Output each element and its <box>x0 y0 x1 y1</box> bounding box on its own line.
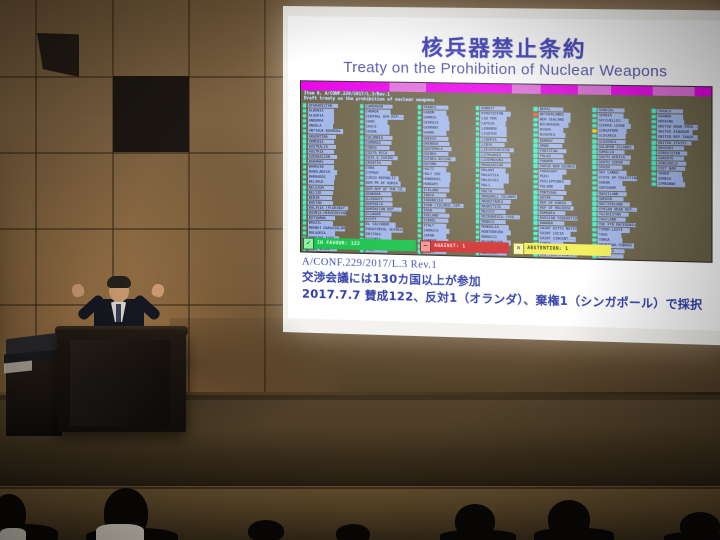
vote-indicator-favour <box>418 126 421 130</box>
tally-in-favour: ✓ IN FAVOUR: 122 <box>303 237 416 251</box>
vote-indicator-favour <box>418 147 421 151</box>
vote-indicator-favour <box>360 161 363 165</box>
country-name: SUDAN <box>598 181 623 186</box>
slide-caption: A/CONF.229/2017/L.3 Rev.1 交渉会議には130カ国以上が… <box>302 256 717 313</box>
vote-indicator-favour <box>476 199 479 203</box>
country-name: ALGERIA <box>308 114 334 119</box>
vote-indicator-favour <box>360 120 363 124</box>
vote-column: AFGHANISTANALBANIAALGERIAANDORRAANGOLAAN… <box>303 103 358 234</box>
audience-light-clothing <box>96 524 144 540</box>
country-name: SLOVENIA <box>598 139 626 144</box>
country-name: KYRGYZSTAN <box>480 111 510 116</box>
acoustic-panel <box>113 76 189 152</box>
country-name: NEW ZEALAND <box>539 117 571 122</box>
vote-indicator-favour <box>593 217 597 221</box>
vote-column: TUVALUUGANDAUKRAINEUNITED ARAB EMIR...UN… <box>652 109 710 243</box>
vote-indicator-favour <box>652 130 656 134</box>
vote-indicator-favour <box>534 180 537 184</box>
country-name: GAMBIA <box>422 116 447 121</box>
vote-indicator-favour <box>303 231 306 235</box>
vote-indicator-favour <box>476 230 479 234</box>
presenter-tie <box>116 304 121 322</box>
vote-indicator-favour <box>360 110 363 114</box>
vote-indicator-favour <box>418 116 421 120</box>
vote-indicator-favour <box>534 201 537 205</box>
vote-indicator-favour <box>593 191 597 195</box>
tally-against: − AGAINST: 1 <box>420 240 509 253</box>
country-name: KUWAIT <box>480 106 506 111</box>
vote-indicator-empty <box>652 213 656 217</box>
vote-indicator-favour <box>360 253 363 257</box>
vote-indicator-favour <box>534 164 537 168</box>
country-name: CUBA <box>365 166 388 171</box>
country-name: HAITI <box>422 167 446 172</box>
vote-indicator-favour <box>652 120 656 124</box>
vote-indicator-favour <box>476 127 479 131</box>
vote-indicator-favour <box>303 196 306 200</box>
vote-indicator-favour <box>476 137 479 141</box>
vote-indicator-favour <box>303 180 306 184</box>
vote-indicator-favour <box>652 151 656 155</box>
vote-indicator-favour <box>360 156 363 160</box>
tally-abstention: ✕ ABSTENTION: 1 <box>513 243 611 257</box>
country-name: LESOTHO <box>480 132 507 137</box>
vote-indicator-favour <box>418 111 421 115</box>
country-name: COLOMBIA <box>365 135 393 140</box>
country-name: MALTA <box>480 189 505 194</box>
vote-indicator-favour <box>418 203 421 207</box>
country-name: GABON <box>422 110 446 115</box>
vote-indicator-favour <box>534 154 537 158</box>
vote-indicator-favour <box>593 197 597 201</box>
vote-indicator-empty <box>652 187 656 191</box>
vote-indicator-favour <box>418 213 421 217</box>
vote-indicator-favour <box>593 108 597 112</box>
vote-indicator-favour <box>303 252 306 256</box>
vote-indicator-favour <box>303 226 306 230</box>
vote-indicator-favour <box>418 177 421 181</box>
vote-indicator-favour <box>476 158 479 162</box>
vote-indicator-favour <box>303 185 306 189</box>
vote-indicator-favour <box>418 167 421 171</box>
vote-indicator-favour <box>652 172 656 176</box>
country-name: GREECE <box>422 136 447 141</box>
lectern-shading <box>70 340 170 426</box>
vote-indicator-favour <box>360 135 363 139</box>
vote-indicator-favour <box>593 114 597 118</box>
vote-indicator-favour <box>303 145 306 149</box>
vote-row: TURKMENISTAN <box>593 259 650 263</box>
vote-indicator-against <box>534 113 537 117</box>
country-name: CAMEROON <box>365 104 393 109</box>
vote-indicator-favour <box>360 166 363 170</box>
vote-indicator-favour <box>652 177 656 181</box>
vote-indicator-favour <box>534 170 537 174</box>
vote-indicator-favour <box>534 144 537 148</box>
vote-indicator-favour <box>534 211 537 215</box>
country-name: SLOVAKIA <box>598 134 626 139</box>
vote-indicator-favour <box>476 215 479 219</box>
audience-shoulders <box>664 532 720 540</box>
vote-indicator-favour <box>593 233 597 237</box>
country-name: ALBANIA <box>308 108 334 113</box>
vote-indicator-favour <box>476 184 479 188</box>
vote-indicator-favour <box>476 194 479 198</box>
vote-indicator-favour <box>534 190 537 194</box>
country-name: GUINEA <box>422 151 447 156</box>
vote-indicator-favour <box>476 148 479 152</box>
vote-indicator-empty <box>652 231 656 235</box>
vote-indicator-favour <box>534 221 537 225</box>
vote-indicator-favour <box>593 181 597 185</box>
vote-indicator-favour <box>360 202 363 206</box>
country-name: PERU <box>539 174 563 179</box>
country-name: VANUATU <box>657 156 684 161</box>
vote-indicator-favour <box>360 207 363 211</box>
vote-indicator-empty <box>652 205 656 209</box>
country-name: NICARAGUA <box>539 123 568 128</box>
country-name: NAURU <box>480 256 505 261</box>
vote-indicator-favour <box>476 132 479 136</box>
vote-indicator-favour <box>476 143 479 147</box>
country-name: AUSTRIA <box>308 149 334 154</box>
vote-indicator-favour <box>534 237 537 241</box>
vote-indicator-empty <box>652 218 656 222</box>
country-name: ANDORRA <box>308 119 334 124</box>
vote-indicator-favour <box>303 170 306 174</box>
country-name: SINGAPORE <box>598 129 627 134</box>
vote-indicator-favour <box>303 150 306 154</box>
country-name: NETHERLANDS <box>539 112 571 117</box>
country-name: MALI <box>480 184 503 189</box>
vote-indicator-favour <box>303 134 306 138</box>
country-name: LIBERIA <box>480 137 507 142</box>
country-name: TURKMENISTAN <box>598 259 631 263</box>
vote-indicator-favour <box>418 208 421 212</box>
vote-indicator-favour <box>476 122 479 126</box>
vote-indicator-favour <box>593 176 597 180</box>
vote-column: CAMEROONCANADACENTRAL AFR REP...CHADCHIL… <box>360 104 415 236</box>
vote-indicator-favour <box>418 136 421 140</box>
vote-indicator-favour <box>652 135 656 139</box>
vote-indicator-favour <box>593 223 597 227</box>
vote-indicator-favour <box>652 156 656 160</box>
country-name: AFGHANISTAN <box>308 103 339 108</box>
vote-indicator-favour <box>418 193 421 197</box>
country-name: NORWAY <box>539 138 565 143</box>
vote-indicator-favour <box>418 224 421 228</box>
vote-indicator-favour <box>303 221 306 225</box>
country-name: SEYCHELLES <box>598 118 629 123</box>
vote-indicator-favour <box>360 140 363 144</box>
vote-indicator-favour <box>360 212 363 216</box>
vote-indicator-favour <box>534 232 537 236</box>
country-name: ZAMBIA <box>657 177 683 182</box>
vote-indicator-favour <box>303 190 306 194</box>
vote-indicator-favour <box>360 227 363 231</box>
vote-indicator-favour <box>360 171 363 175</box>
vote-indicator-favour <box>303 165 306 169</box>
un-voting-board: Item 9, A/CONF.229/2017/L.3/Rev.1 Draft … <box>300 80 713 263</box>
country-name: NIGER <box>539 128 564 133</box>
country-name: IRAQ <box>422 208 445 213</box>
vote-indicator-favour <box>593 150 597 154</box>
vote-indicator-favour <box>360 187 363 191</box>
country-name: POLAND <box>539 185 565 190</box>
vote-indicator-favour <box>418 219 421 223</box>
country-name: ARMENIA <box>308 139 334 144</box>
country-name: GERMANY <box>422 126 449 131</box>
audience-head <box>248 520 284 540</box>
vote-indicator-favour <box>534 216 537 220</box>
audience-light-clothing <box>0 528 26 540</box>
vote-indicator-favour <box>360 217 363 221</box>
vote-indicator-empty <box>652 196 656 200</box>
country-name: GUYANA <box>422 162 447 167</box>
vote-indicator-favour <box>534 257 537 261</box>
vote-indicator-favour <box>303 175 306 179</box>
country-name: CAMBODIA <box>308 251 335 256</box>
vote-indicator-favour <box>418 188 421 192</box>
vote-indicator-favour <box>303 160 306 164</box>
vote-indicator-empty <box>652 209 656 213</box>
vote-indicator-favour <box>303 114 306 118</box>
presenter-hair <box>107 276 131 288</box>
country-name: FINLAND <box>365 253 391 258</box>
vote-indicator-favour <box>476 153 479 157</box>
country-name: KIRIBATI <box>422 254 450 259</box>
vote-indicator-favour <box>476 179 479 183</box>
vote-indicator-empty <box>652 191 656 195</box>
country-name: CHINA <box>365 130 389 135</box>
vote-indicator-favour <box>303 129 306 133</box>
vote-indicator-favour <box>593 155 597 159</box>
audience-shoulders <box>534 528 614 540</box>
vote-indicator-favour <box>652 115 656 119</box>
vote-indicator-favour <box>593 124 597 128</box>
vote-indicator-favour <box>652 182 656 186</box>
vote-indicator-favour <box>476 204 479 208</box>
vote-indicator-favour <box>534 175 537 179</box>
country-name: ANGOLA <box>308 124 333 129</box>
vote-indicator-favour <box>360 151 363 155</box>
lecture-hall-photo: 核兵器禁止条約 Treaty on the Prohibition of Nuc… <box>0 0 720 540</box>
vote-column: KUWAITKYRGYZSTANLAO PDRLATVIALEBANONLESO… <box>476 106 532 239</box>
vote-indicator-favour <box>303 211 306 215</box>
country-name: CANADA <box>365 109 390 114</box>
tally-in-favour-label: IN FAVOUR: 122 <box>314 238 416 252</box>
country-name: QATAR <box>539 195 564 200</box>
country-name: MALAWI <box>480 168 506 173</box>
vote-indicator-favour <box>360 181 363 185</box>
vote-indicator-favour <box>593 228 597 232</box>
vote-indicator-favour <box>418 198 421 202</box>
vote-indicator-favour <box>360 125 363 129</box>
country-name: LEBANON <box>480 127 507 132</box>
audience-shoulders <box>440 530 516 540</box>
vote-indicator-favour <box>593 212 597 216</box>
vote-indicator-favour <box>476 256 479 260</box>
presentation-slide: 核兵器禁止条約 Treaty on the Prohibition of Nuc… <box>288 16 720 331</box>
vote-indicator-favour <box>360 197 363 201</box>
country-name: SOMALIA <box>598 150 625 155</box>
vote-indicator-favour <box>652 146 656 150</box>
vote-indicator-favour <box>418 234 421 238</box>
vote-indicator-favour <box>534 206 537 210</box>
vote-indicator-favour <box>476 225 479 229</box>
vote-indicator-favour <box>360 222 363 226</box>
tally-abstention-label: ABSTENTION: 1 <box>524 243 611 256</box>
vote-indicator-favour <box>476 235 479 239</box>
vote-indicator-favour <box>534 107 537 111</box>
vote-indicator-favour <box>534 195 537 199</box>
country-name: TUVALU <box>657 109 683 114</box>
vote-indicator-favour <box>418 229 421 233</box>
country-name: GRENADA <box>422 141 449 146</box>
country-name: PALAU <box>539 154 564 159</box>
vote-indicator-favour <box>360 176 363 180</box>
vote-indicator-favour <box>593 171 597 175</box>
vote-indicator-favour <box>476 168 479 172</box>
vote-indicator-favour <box>418 162 421 166</box>
vote-indicator-favour <box>593 119 597 123</box>
vote-indicator-favour <box>593 145 597 149</box>
vote-indicator-favour <box>593 238 597 242</box>
vote-indicator-favour <box>360 146 363 150</box>
vote-indicator-favour <box>303 119 306 123</box>
vote-indicator-favour <box>418 131 421 135</box>
vote-indicator-favour <box>593 207 597 211</box>
vote-column: SENEGALSERBIASEYCHELLESSIERRA LEONESINGA… <box>593 108 650 242</box>
vote-indicator-empty <box>652 222 656 226</box>
country-name: NIGERIA <box>539 133 566 138</box>
country-name: SENEGAL <box>598 108 625 113</box>
vote-indicator-favour <box>534 133 537 137</box>
vote-indicator-favour <box>476 112 479 116</box>
vote-indicator-favour <box>593 202 597 206</box>
minus-icon: − <box>420 240 431 252</box>
vote-indicator-favour <box>652 109 656 113</box>
vote-indicator-empty <box>652 226 656 230</box>
vote-indicator-empty <box>652 235 656 239</box>
vote-indicator-favour <box>418 157 421 161</box>
vote-indicator-favour <box>303 201 306 205</box>
vote-indicator-favour <box>534 159 537 163</box>
vote-indicator-favour <box>303 109 306 113</box>
vote-indicator-favour <box>418 255 421 259</box>
vote-indicator-favour <box>418 121 421 125</box>
front-wall-edge <box>0 487 720 489</box>
vote-columns: AFGHANISTANALBANIAALGERIAANDORRAANGOLAAN… <box>303 103 709 243</box>
country-name: LAO PDR <box>480 116 507 121</box>
vote-indicator-abstain <box>593 129 597 133</box>
vote-indicator-favour <box>476 189 479 193</box>
vote-indicator-favour <box>303 216 306 220</box>
country-name: CONGO <box>365 145 389 150</box>
vote-indicator-favour <box>593 186 597 190</box>
country-name: NEPAL <box>539 107 564 112</box>
country-name: GEORGIA <box>422 121 449 126</box>
stage-shadow <box>170 318 330 438</box>
vote-indicator-favour <box>534 123 537 127</box>
vote-indicator-favour <box>476 163 479 167</box>
country-name: GHANA <box>422 131 446 136</box>
vote-indicator-favour <box>534 118 537 122</box>
country-name: PAKISTAN <box>539 148 567 153</box>
vote-indicator-favour <box>303 139 306 143</box>
country-name: UGANDA <box>657 114 683 119</box>
vote-indicator-favour <box>593 140 597 144</box>
country-name: SERBIA <box>598 113 624 118</box>
vote-indicator-favour <box>418 152 421 156</box>
vote-indicator-favour <box>593 160 597 164</box>
vote-indicator-favour <box>534 138 537 142</box>
vote-column: NEPALNETHERLANDSNEW ZEALANDNICARAGUANIGE… <box>534 107 591 240</box>
vote-indicator-favour <box>303 104 306 108</box>
vote-indicator-favour <box>534 149 537 153</box>
vote-indicator-favour <box>360 105 363 109</box>
projection-screen: 核兵器禁止条約 Treaty on the Prohibition of Nuc… <box>283 6 720 346</box>
country-name: LATVIA <box>480 122 506 127</box>
country-name: LIBYA <box>480 142 505 147</box>
vote-indicator-favour <box>476 106 479 110</box>
vote-indicator-favour <box>418 183 421 187</box>
check-icon: ✓ <box>303 237 314 249</box>
vote-column: FRANCEGABONGAMBIAGEORGIAGERMANYGHANAGREE… <box>418 105 474 237</box>
vote-indicator-favour <box>534 128 537 132</box>
vote-indicator-favour <box>303 124 306 128</box>
vote-indicator-favour <box>534 185 537 189</box>
country-name: FRANCE <box>422 105 447 110</box>
vote-indicator-favour <box>360 130 363 134</box>
vote-indicator-favour <box>418 172 421 176</box>
vote-indicator-favour <box>652 125 656 129</box>
country-name: COMOROS <box>365 140 391 145</box>
vote-indicator-empty <box>652 240 656 244</box>
vote-indicator-favour <box>593 259 597 263</box>
vote-indicator-favour <box>593 165 597 169</box>
audience-head <box>336 524 370 540</box>
vote-indicator-favour <box>418 106 421 110</box>
vote-indicator-favour <box>418 142 421 146</box>
vote-indicator-favour <box>476 174 479 178</box>
vote-indicator-favour <box>652 161 656 165</box>
country-name: CHAD <box>365 120 388 125</box>
vote-indicator-favour <box>360 192 363 196</box>
vote-indicator-favour <box>652 167 656 171</box>
country-name: CHILE <box>365 125 389 130</box>
country-name: OMAN <box>539 143 563 148</box>
country-name: YEMEN <box>657 172 682 177</box>
cross-icon: ✕ <box>513 242 524 254</box>
vote-indicator-favour <box>534 226 537 230</box>
vote-indicator-favour <box>476 220 479 224</box>
country-name: PANAMA <box>539 159 565 164</box>
vote-indicator-favour <box>476 210 479 214</box>
vote-indicator-favour <box>652 141 656 145</box>
country-name: SPAIN <box>598 165 623 170</box>
country-name: URUGUAY <box>657 145 684 150</box>
tally-against-label: AGAINST: 1 <box>431 241 509 254</box>
vote-indicator-empty <box>652 200 656 204</box>
country-name: CYPRUS <box>365 171 390 176</box>
vote-indicator-favour <box>360 115 363 119</box>
vote-indicator-favour <box>303 206 306 210</box>
country-name: UKRAINE <box>657 119 684 124</box>
vote-indicator-favour <box>593 134 597 138</box>
vote-indicator-favour <box>303 155 306 159</box>
vote-indicator-favour <box>476 117 479 121</box>
